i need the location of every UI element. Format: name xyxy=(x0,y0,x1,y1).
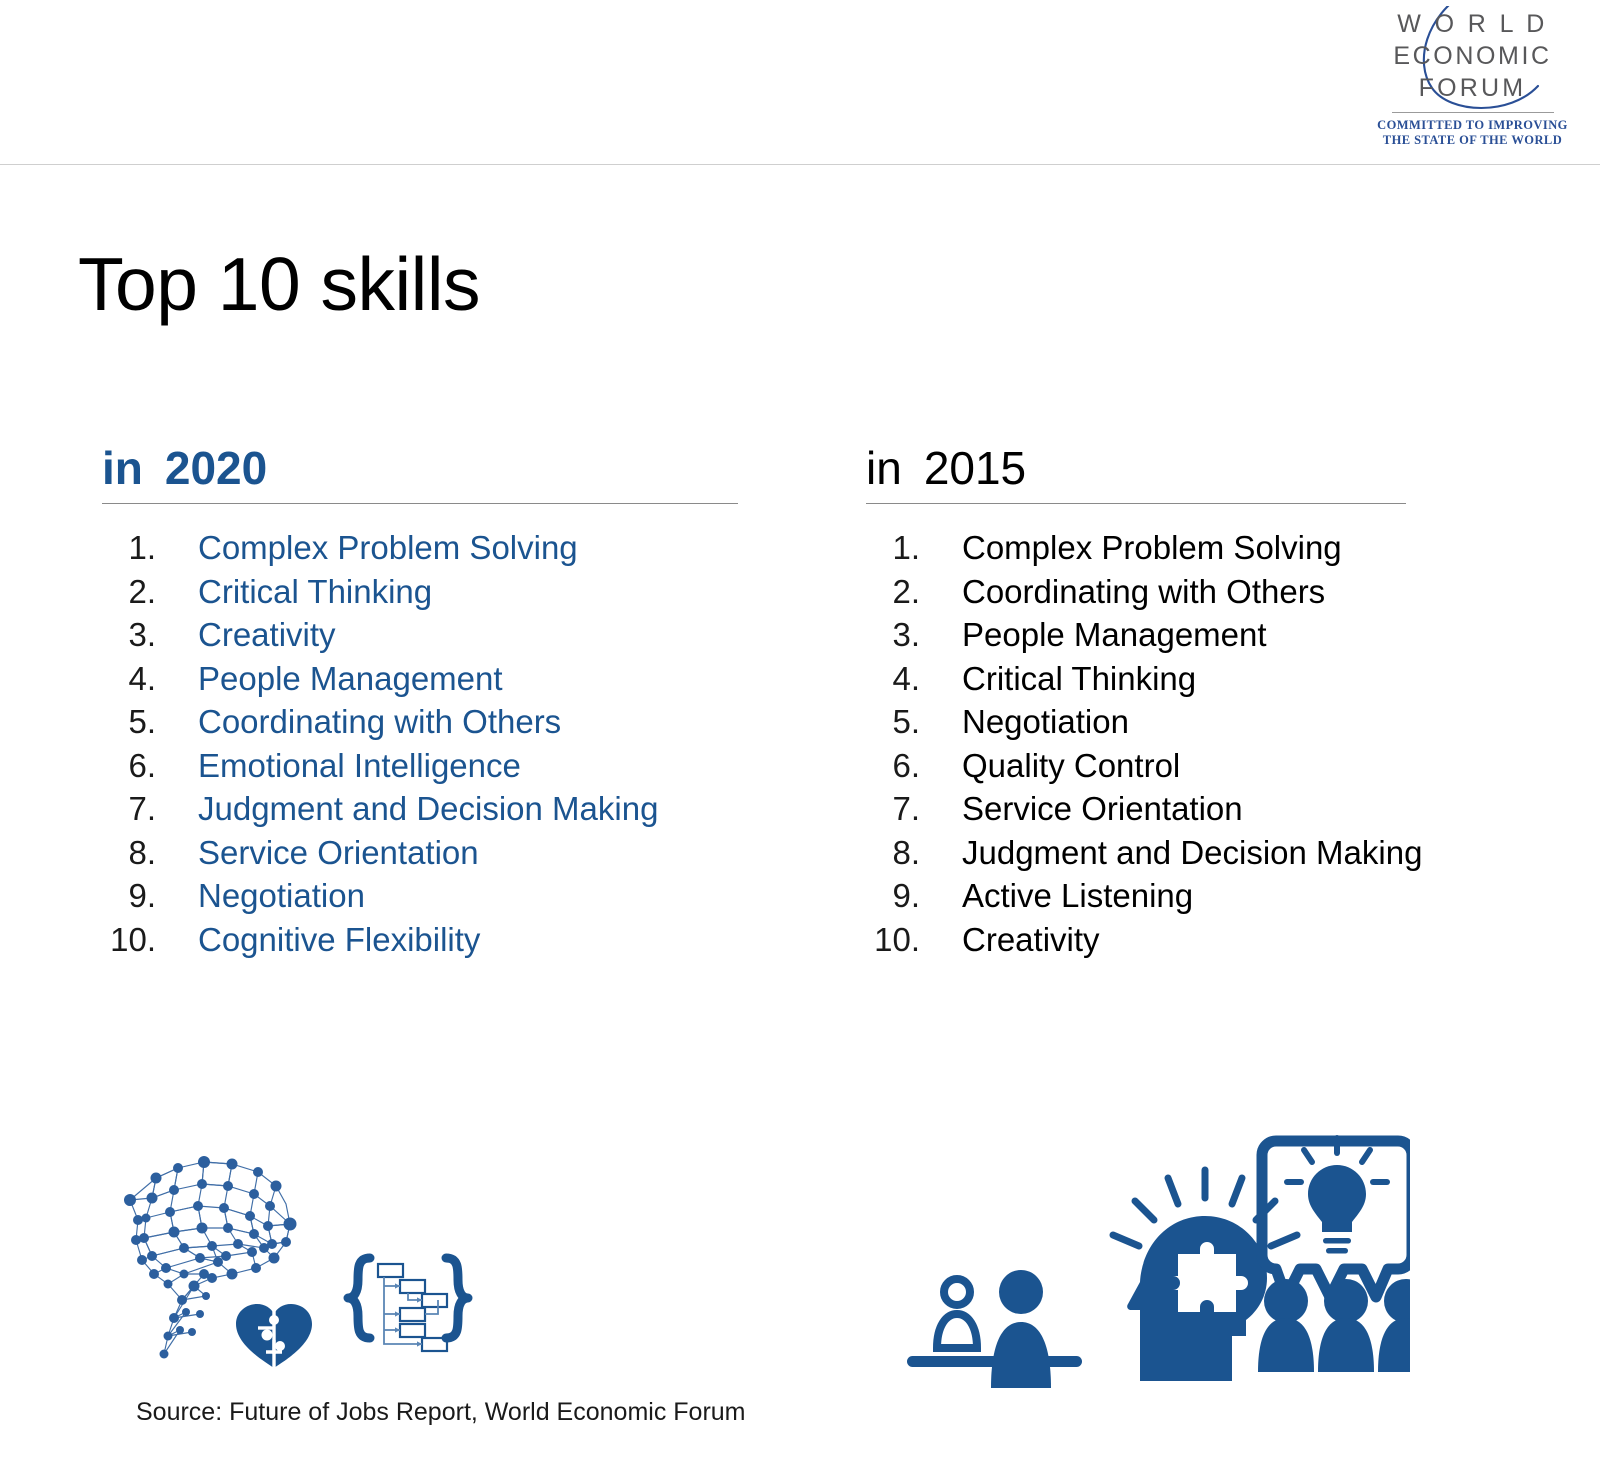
list-item[interactable]: 5. Coordinating with Others xyxy=(102,700,738,744)
column-divider-2015 xyxy=(866,503,1406,504)
wef-logo: W O R L D ECONOMIC FORUM COMMITTED TO IM… xyxy=(1370,6,1575,158)
skill-label: Service Orientation xyxy=(198,831,479,875)
skill-rank: 9. xyxy=(102,874,156,918)
skill-label: Cognitive Flexibility xyxy=(198,918,480,962)
wef-wordmark-line-3: FORUM xyxy=(1370,74,1575,103)
skills-list-2020: 1. Complex Problem Solving 2. Critical T… xyxy=(102,526,738,961)
skill-rank: 2. xyxy=(866,570,920,614)
infographic-page: W O R L D ECONOMIC FORUM COMMITTED TO IM… xyxy=(0,0,1600,1462)
list-item[interactable]: 7. Judgment and Decision Making xyxy=(102,787,738,831)
skill-rank: 1. xyxy=(102,526,156,570)
column-heading-in-label: in xyxy=(102,442,143,494)
skill-rank: 5. xyxy=(866,700,920,744)
skill-rank: 7. xyxy=(866,787,920,831)
skill-label: Active Listening xyxy=(962,874,1193,918)
skill-label: Coordinating with Others xyxy=(962,570,1325,614)
wef-logo-divider xyxy=(1392,112,1554,113)
source-note: Source: Future of Jobs Report, World Eco… xyxy=(136,1398,746,1427)
skill-label: Negotiation xyxy=(198,874,365,918)
skill-label: Coordinating with Others xyxy=(198,700,561,744)
list-item[interactable]: 10. Creativity xyxy=(866,918,1406,962)
skill-label: Quality Control xyxy=(962,744,1180,788)
brain-network-illustration xyxy=(108,1128,478,1368)
skill-rank: 7. xyxy=(102,787,156,831)
skill-label: Complex Problem Solving xyxy=(962,526,1342,570)
skill-rank: 4. xyxy=(866,657,920,701)
list-item[interactable]: 10. Cognitive Flexibility xyxy=(102,918,738,962)
list-item[interactable]: 4. Critical Thinking xyxy=(866,657,1406,701)
list-item[interactable]: 4. People Management xyxy=(102,657,738,701)
column-divider-2020 xyxy=(102,503,738,504)
column-heading-2015: in2015 xyxy=(866,440,1406,500)
skill-rank: 5. xyxy=(102,700,156,744)
list-item[interactable]: 2. Critical Thinking xyxy=(102,570,738,614)
wef-tagline: COMMITTED TO IMPROVING THE STATE OF THE … xyxy=(1370,118,1575,147)
skill-label: Critical Thinking xyxy=(198,570,432,614)
list-item[interactable]: 8. Service Orientation xyxy=(102,831,738,875)
skill-label: Creativity xyxy=(198,613,336,657)
skill-rank: 4. xyxy=(102,657,156,701)
wef-wordmark: W O R L D ECONOMIC FORUM xyxy=(1370,6,1575,104)
collaboration-illustration xyxy=(880,1098,1410,1388)
column-heading-year: 2015 xyxy=(924,442,1026,494)
skill-rank: 3. xyxy=(866,613,920,657)
list-item[interactable]: 3. People Management xyxy=(866,613,1406,657)
heart-puzzle-icon xyxy=(236,1304,312,1368)
lightbulb-icon xyxy=(1308,1165,1366,1254)
wef-wordmark-line-2: ECONOMIC xyxy=(1370,42,1575,71)
skill-rank: 10. xyxy=(102,918,156,962)
list-item[interactable]: 9. Negotiation xyxy=(102,874,738,918)
skills-list-2015: 1. Complex Problem Solving 2. Coordinati… xyxy=(866,526,1406,961)
skill-label: Judgment and Decision Making xyxy=(198,787,658,831)
list-item[interactable]: 1. Complex Problem Solving xyxy=(866,526,1406,570)
skill-label: Complex Problem Solving xyxy=(198,526,578,570)
skill-rank: 8. xyxy=(102,831,156,875)
skill-label: Critical Thinking xyxy=(962,657,1196,701)
column-heading-year: 2020 xyxy=(165,442,267,494)
list-item[interactable]: 5. Negotiation xyxy=(866,700,1406,744)
people-at-desk-icon xyxy=(907,1270,1082,1388)
skill-rank: 1. xyxy=(866,526,920,570)
skill-label: Negotiation xyxy=(962,700,1129,744)
list-item[interactable]: 7. Service Orientation xyxy=(866,787,1406,831)
skill-rank: 8. xyxy=(866,831,920,875)
skill-label: Judgment and Decision Making xyxy=(962,831,1422,875)
wef-wordmark-line-1: W O R L D xyxy=(1370,10,1575,39)
skill-label: People Management xyxy=(962,613,1267,657)
speech-bubble-lightbulb-icon xyxy=(1262,1138,1410,1297)
list-item[interactable]: 2. Coordinating with Others xyxy=(866,570,1406,614)
list-item[interactable]: 9. Active Listening xyxy=(866,874,1406,918)
skill-rank: 2. xyxy=(102,570,156,614)
audience-people-icon xyxy=(1258,1279,1410,1372)
skill-label: Service Orientation xyxy=(962,787,1243,831)
column-heading-in-label: in xyxy=(866,442,902,494)
skill-label: Creativity xyxy=(962,918,1100,962)
skills-column-2020: in2020 1. Complex Problem Solving 2. Cri… xyxy=(102,440,738,961)
list-item[interactable]: 6. Emotional Intelligence xyxy=(102,744,738,788)
skill-rank: 10. xyxy=(866,918,920,962)
column-heading-2020: in2020 xyxy=(102,440,738,500)
skill-rank: 3. xyxy=(102,613,156,657)
page-title: Top 10 skills xyxy=(78,247,480,322)
skills-column-2015: in2015 1. Complex Problem Solving 2. Coo… xyxy=(866,440,1406,961)
skill-label: People Management xyxy=(198,657,503,701)
list-item[interactable]: 6. Quality Control xyxy=(866,744,1406,788)
list-item[interactable]: 1. Complex Problem Solving xyxy=(102,526,738,570)
list-item[interactable]: 8. Judgment and Decision Making xyxy=(866,831,1406,875)
skill-label: Emotional Intelligence xyxy=(198,744,521,788)
page-header: W O R L D ECONOMIC FORUM COMMITTED TO IM… xyxy=(0,0,1600,165)
skill-rank: 6. xyxy=(866,744,920,788)
skill-rank: 6. xyxy=(102,744,156,788)
skill-rank: 9. xyxy=(866,874,920,918)
list-item[interactable]: 3. Creativity xyxy=(102,613,738,657)
code-braces-flowchart-icon xyxy=(348,1258,468,1351)
